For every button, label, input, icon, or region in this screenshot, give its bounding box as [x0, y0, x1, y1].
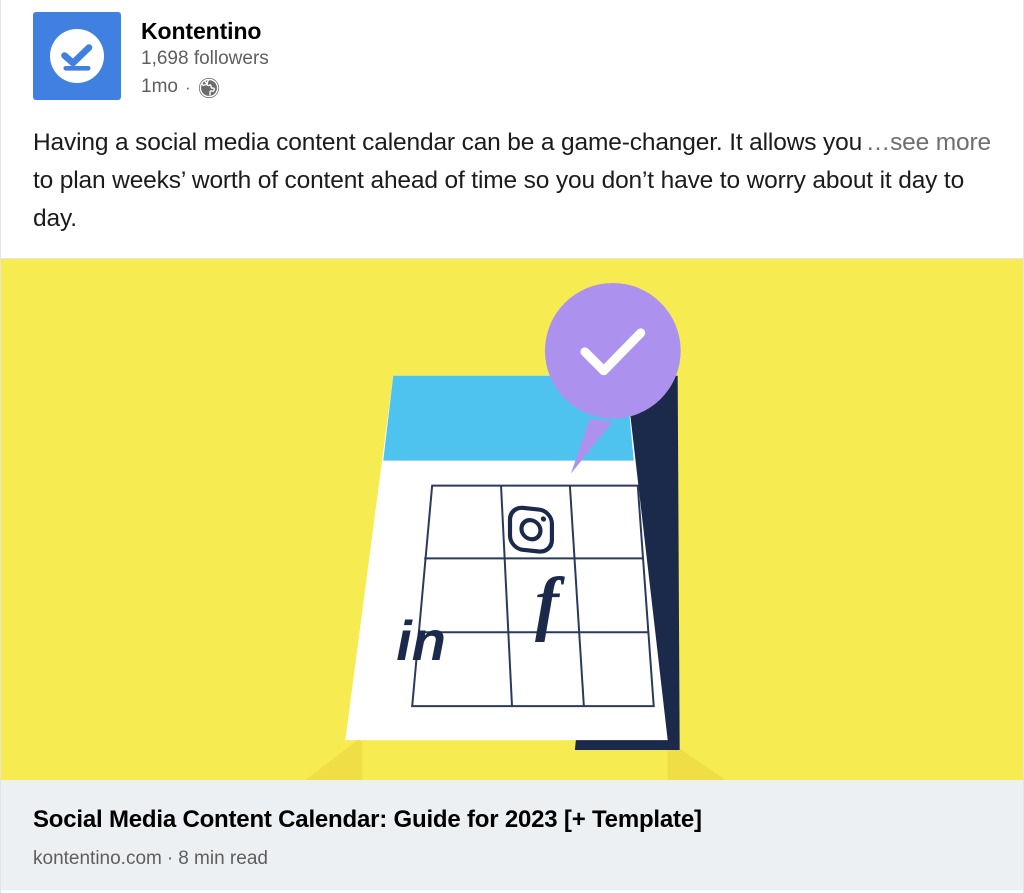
post-commentary-text: Having a social media content calendar c… [33, 129, 964, 232]
post-author-meta: Kontentino 1,698 followers 1mo · [141, 10, 269, 101]
author-followers: 1,698 followers [141, 46, 269, 73]
avatar[interactable] [33, 12, 121, 100]
article-domain: kontentino.com [33, 848, 162, 869]
post-timestamp: 1mo [141, 74, 178, 101]
subline-separator: · [185, 76, 191, 100]
svg-text:in: in [396, 609, 446, 672]
globe-icon [198, 77, 220, 99]
bubble-circle [545, 283, 681, 419]
post-subline: 1mo · [141, 74, 269, 101]
article-read-time: 8 min read [178, 848, 268, 869]
calendar-illustration: f in [1, 259, 1023, 780]
see-more-button[interactable]: …see more [866, 124, 991, 162]
kontentino-check-logo-icon [46, 25, 108, 87]
article-subline: kontentino.com·8 min read [33, 847, 991, 872]
article-separator: · [167, 848, 173, 869]
linkedin-icon: in [396, 609, 446, 672]
linkedin-post-card: Kontentino 1,698 followers 1mo · …see mo… [0, 0, 1024, 893]
article-preview-image[interactable]: f in [1, 258, 1023, 780]
post-commentary: …see more Having a social media content … [1, 108, 1023, 258]
article-footer[interactable]: Social Media Content Calendar: Guide for… [1, 780, 1023, 890]
article-title[interactable]: Social Media Content Calendar: Guide for… [33, 804, 991, 835]
author-name[interactable]: Kontentino [141, 18, 269, 45]
post-header: Kontentino 1,698 followers 1mo · [1, 0, 1023, 108]
